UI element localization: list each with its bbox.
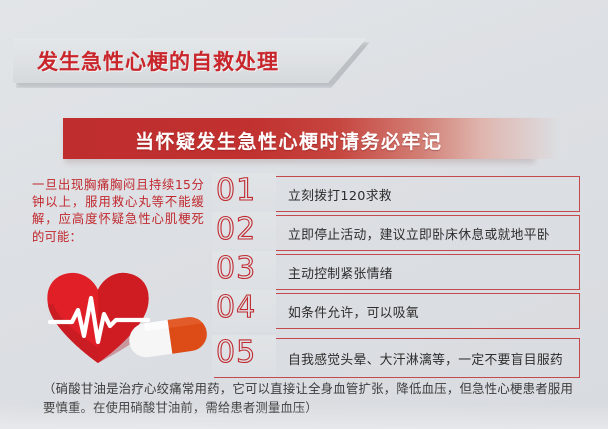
- step-number: 05: [216, 333, 278, 373]
- infographic-poster: 发生急性心梗的自救处理 当怀疑发生急性心梗时请务必牢记 一旦出现胸痛胸闷且持续1…: [0, 0, 608, 429]
- list-item[interactable]: 05 自我感觉头晕、大汗淋漓等，一定不要盲目服药: [214, 338, 580, 378]
- step-label: 立即停止活动，建议立即卧床休息或就地平卧: [288, 215, 574, 251]
- headline-bar: 当怀疑发生急性心梗时请务必牢记: [63, 118, 561, 159]
- step-label: 主动控制紧张情绪: [288, 254, 574, 290]
- illustration-group: [22, 266, 208, 374]
- step-number: 04: [216, 288, 278, 328]
- steps-list: 01 立刻拨打120求救 02 立即停止活动，建议立即卧床休息或就地平卧 03 …: [214, 176, 580, 381]
- step-number: 03: [216, 249, 278, 289]
- step-number: 02: [216, 210, 278, 250]
- list-item[interactable]: 03 主动控制紧张情绪: [214, 254, 580, 290]
- step-label: 立刻拨打120求救: [288, 176, 574, 212]
- capsule-pill-icon: [126, 316, 212, 358]
- page-title: 发生急性心梗的自救处理: [37, 46, 279, 76]
- lead-paragraph: 一旦出现胸痛胸闷且持续15分钟以上，服用救心丸等不能缓解，应高度怀疑急性心肌梗死…: [32, 177, 204, 246]
- headline-text: 当怀疑发生急性心梗时请务必牢记: [135, 127, 443, 154]
- footnote: （硝酸甘油是治疗心绞痛常用药，它可以直接让全身血管扩张，降低血压，但急性心梗患者…: [43, 379, 573, 417]
- left-column: 一旦出现胸痛胸闷且持续15分钟以上，服用救心丸等不能缓解，应高度怀疑急性心肌梗死…: [32, 177, 204, 246]
- step-number: 01: [216, 171, 278, 211]
- list-item[interactable]: 04 如条件允许，可以吸氧: [214, 293, 580, 329]
- list-item[interactable]: 02 立即停止活动，建议立即卧床休息或就地平卧: [214, 215, 580, 251]
- step-label: 自我感觉头晕、大汗淋漓等，一定不要盲目服药: [288, 338, 574, 378]
- step-label: 如条件允许，可以吸氧: [288, 293, 574, 329]
- list-item[interactable]: 01 立刻拨打120求救: [214, 176, 580, 212]
